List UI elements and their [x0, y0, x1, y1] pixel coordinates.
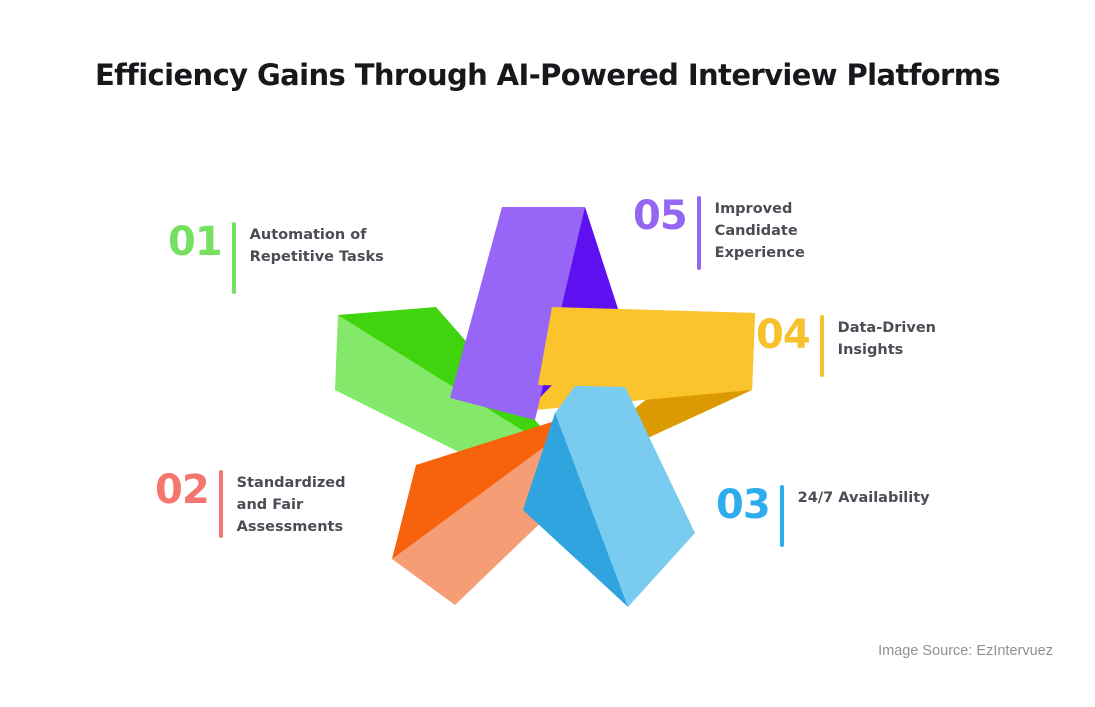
callout-03-number: 03 [716, 485, 770, 525]
callout-01-number: 01 [168, 222, 222, 262]
callout-02[interactable]: 02 Standardized and Fair Assessments [155, 470, 345, 538]
callout-02-number: 02 [155, 470, 209, 510]
callout-05-label: Improved Candidate Experience [715, 196, 805, 264]
page-title: Efficiency Gains Through AI-Powered Inte… [0, 58, 1095, 92]
callout-03[interactable]: 03 24/7 Availability [716, 485, 930, 547]
callout-02-label: Standardized and Fair Assessments [237, 470, 346, 538]
callout-01-divider [232, 222, 236, 294]
callout-04[interactable]: 04 Data-Driven Insights [756, 315, 936, 377]
callout-04-divider [820, 315, 824, 377]
callout-05-number: 05 [633, 196, 687, 236]
callout-04-label: Data-Driven Insights [838, 315, 936, 361]
callout-04-number: 04 [756, 315, 810, 355]
image-source-credit: Image Source: EzIntervuez [878, 643, 1053, 659]
callout-01[interactable]: 01 Automation of Repetitive Tasks [168, 222, 384, 294]
callout-03-label: 24/7 Availability [798, 485, 930, 509]
callout-05[interactable]: 05 Improved Candidate Experience [633, 196, 805, 270]
callout-05-divider [697, 196, 701, 270]
callout-03-divider [780, 485, 784, 547]
callout-01-label: Automation of Repetitive Tasks [250, 222, 384, 268]
callout-02-divider [219, 470, 223, 538]
ribbon-yellow-face-overlap [538, 307, 755, 390]
